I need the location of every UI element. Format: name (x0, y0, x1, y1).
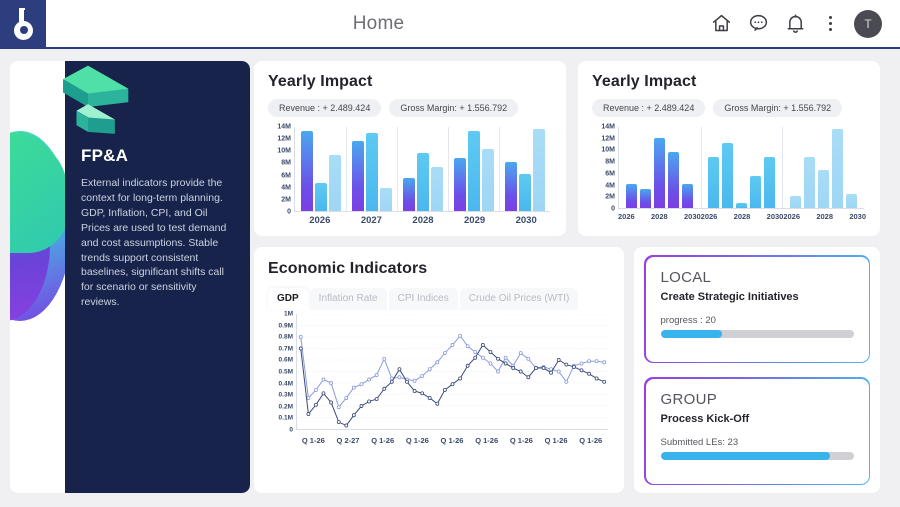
app-logo[interactable] (0, 0, 46, 48)
data-point[interactable] (527, 376, 530, 379)
y-tick: 4M (605, 182, 615, 189)
data-point[interactable] (360, 404, 363, 407)
x-tick-group: 202620282030 (783, 212, 866, 221)
y-tick: 0.4M (279, 380, 293, 387)
fpa-dark-card: FP&A External indicators provide the con… (65, 61, 250, 493)
x-tick (833, 212, 849, 221)
gdp-line-chart: 1M0.9M0.8M0.7M0.6M0.5M0.4M0.3M0.2M0.1M0 … (268, 314, 610, 454)
y-tick: 4M (281, 184, 291, 191)
gross-margin-badge: Gross Margin: + 1.556.792 (389, 99, 518, 117)
bar[interactable] (626, 184, 637, 208)
yearly-impact-1-title: Yearly Impact (268, 73, 552, 91)
data-point[interactable] (375, 397, 378, 400)
y-tick: 0.2M (279, 403, 293, 410)
kpi-card-local[interactable]: LOCAL Create Strategic Initiatives progr… (644, 255, 870, 363)
fpa-info-panel: FP&A External indicators provide the con… (10, 61, 250, 493)
yearly-impact-2-badges: Revenue : + 2.489.424 Gross Margin: + 1.… (592, 99, 866, 117)
y-tick: 0.6M (279, 357, 293, 364)
line-chart-svg (297, 314, 608, 429)
data-point[interactable] (459, 334, 462, 337)
x-tick: 2028 (734, 212, 751, 221)
y-tick: 12M (277, 136, 291, 143)
data-point[interactable] (489, 362, 492, 365)
yearly-impact-2-x-labels: 202620282030202620282030202620282030 (618, 212, 866, 221)
kpi-card-group[interactable]: GROUP Process Kick-Off Submitted LEs: 23 (644, 377, 870, 485)
data-point[interactable] (580, 362, 583, 365)
data-point[interactable] (421, 374, 424, 377)
revenue-badge: Revenue : + 2.489.424 (592, 99, 705, 117)
data-point[interactable] (466, 364, 469, 367)
data-point[interactable] (299, 335, 302, 338)
x-tick: Q 2-27 (331, 436, 366, 445)
data-point[interactable] (580, 369, 583, 372)
page-title: Home (46, 13, 711, 35)
x-axis-labels: Q 1-26Q 2-27Q 1-26Q 1-26Q 1-26Q 1-26Q 1-… (296, 436, 608, 445)
data-point[interactable] (390, 380, 393, 383)
data-point[interactable] (565, 380, 568, 383)
bar[interactable] (366, 133, 378, 211)
data-point[interactable] (451, 383, 454, 386)
x-tick: 2028 (816, 212, 833, 221)
kpi-cards-container: LOCAL Create Strategic Initiatives progr… (634, 247, 880, 493)
data-point[interactable] (474, 350, 477, 353)
kpi-local-progress-fill (661, 330, 723, 338)
y-tick: 10M (601, 147, 615, 154)
y-tick: 14M (601, 124, 615, 131)
bar[interactable] (832, 129, 843, 208)
data-point[interactable] (474, 356, 477, 359)
data-point[interactable] (504, 362, 507, 365)
kpi-local-subtitle: Create Strategic Initiatives (661, 291, 854, 303)
x-tick: 2030 (684, 212, 701, 221)
data-point[interactable] (360, 383, 363, 386)
yearly-impact-1-bar-chart: 14M12M10M8M6M4M2M0 (268, 127, 552, 212)
data-point[interactable] (322, 392, 325, 395)
x-tick: 2028 (651, 212, 668, 221)
y-tick: 14M (277, 124, 291, 131)
yearly-impact-card-2: Yearly Impact Revenue : + 2.489.424 Gros… (578, 61, 880, 236)
kpi-group-subtitle: Process Kick-Off (661, 413, 854, 425)
bar[interactable] (533, 129, 545, 211)
arrow-3d-logo-icon (40, 61, 136, 154)
x-tick-group: 202620282030 (618, 212, 701, 221)
data-point[interactable] (466, 345, 469, 348)
bar[interactable] (708, 157, 719, 208)
data-point[interactable] (588, 372, 591, 375)
data-point[interactable] (497, 370, 500, 373)
kpi-group-label: GROUP (661, 391, 854, 408)
b-logo-icon (10, 8, 36, 40)
data-point[interactable] (595, 377, 598, 380)
data-point[interactable] (428, 368, 431, 371)
tab-crude-oil-prices-wti[interactable]: Crude Oil Prices (WTI) (460, 288, 579, 310)
yearly-impact-2-title: Yearly Impact (592, 73, 866, 91)
data-point[interactable] (436, 402, 439, 405)
kpi-group-progress-fill (661, 452, 831, 460)
yearly-impact-1-x-labels: 20262027202820292030 (294, 215, 552, 226)
data-point[interactable] (368, 400, 371, 403)
data-point[interactable] (489, 350, 492, 353)
bar[interactable] (750, 176, 761, 208)
data-point[interactable] (603, 361, 606, 364)
data-point[interactable] (337, 406, 340, 409)
data-point[interactable] (572, 365, 575, 368)
bar[interactable] (519, 174, 531, 211)
data-point[interactable] (352, 386, 355, 389)
data-point[interactable] (405, 380, 408, 383)
bar-group (295, 127, 346, 211)
data-point[interactable] (307, 396, 310, 399)
avatar[interactable]: T (854, 10, 882, 38)
data-point[interactable] (299, 347, 302, 350)
bar[interactable] (722, 143, 733, 208)
y-tick: 12M (601, 135, 615, 142)
bar-group (499, 127, 550, 211)
data-point[interactable] (451, 343, 454, 346)
data-point[interactable] (368, 378, 371, 381)
data-point[interactable] (443, 388, 446, 391)
bar-group (701, 127, 783, 208)
bar[interactable] (454, 158, 466, 211)
x-tick (668, 212, 684, 221)
bar[interactable] (764, 157, 775, 208)
y-tick: 2M (281, 196, 291, 203)
y-tick: 6M (605, 170, 615, 177)
tab-gdp[interactable]: GDP (268, 288, 308, 310)
y-tick: 0.9M (279, 322, 293, 329)
data-point[interactable] (314, 388, 317, 391)
data-point[interactable] (314, 403, 317, 406)
x-tick: 2028 (397, 215, 449, 226)
data-point[interactable] (307, 412, 310, 415)
bar[interactable] (352, 141, 364, 211)
data-point[interactable] (443, 351, 446, 354)
data-point[interactable] (504, 356, 507, 359)
kebab-menu-icon[interactable] (822, 13, 838, 34)
data-point[interactable] (588, 360, 591, 363)
y-tick: 0 (287, 209, 291, 216)
app-header: Home T (0, 0, 900, 49)
y-tick: 0.3M (279, 392, 293, 399)
economic-indicators-title: Economic Indicators (268, 260, 610, 278)
data-point[interactable] (534, 366, 537, 369)
kpi-local-progress-bar (661, 330, 854, 338)
data-point[interactable] (345, 396, 348, 399)
x-tick: Q 1-26 (435, 436, 470, 445)
data-point[interactable] (322, 378, 325, 381)
yearly-impact-card-1: Yearly Impact Revenue : + 2.489.424 Gros… (254, 61, 566, 236)
bar[interactable] (682, 184, 693, 208)
plot-area (296, 314, 608, 430)
kpi-local-progress-label: progress : 20 (661, 315, 854, 326)
x-tick: 2030 (500, 215, 552, 226)
bar[interactable] (668, 152, 679, 208)
y-tick: 0 (611, 206, 615, 213)
kpi-group-progress-label: Submitted LEs: 23 (661, 437, 854, 448)
x-tick: Q 1-26 (296, 436, 331, 445)
yearly-impact-2-bar-chart: 14M12M10M8M6M4M2M0 (592, 127, 866, 209)
x-tick: Q 1-26 (573, 436, 608, 445)
revenue-badge: Revenue : + 2.489.424 (268, 99, 381, 117)
y-axis: 1M0.9M0.8M0.7M0.6M0.5M0.4M0.3M0.2M0.1M0 (268, 314, 294, 430)
kpi-group-progress-bar (661, 452, 854, 460)
bar[interactable] (468, 131, 480, 211)
tab-cpi-indices[interactable]: CPI Indices (389, 288, 458, 310)
data-point[interactable] (512, 366, 515, 369)
x-tick: 2026 (701, 212, 718, 221)
data-point[interactable] (330, 381, 333, 384)
page-body: FP&A External indicators provide the con… (0, 51, 900, 507)
bar[interactable] (846, 194, 857, 208)
bar[interactable] (640, 189, 651, 208)
kpi-local-label: LOCAL (661, 269, 854, 286)
bar[interactable] (736, 203, 747, 208)
data-point[interactable] (413, 379, 416, 382)
data-point[interactable] (383, 357, 386, 360)
tab-inflation-rate[interactable]: Inflation Rate (310, 288, 387, 310)
y-tick: 10M (277, 148, 291, 155)
data-point[interactable] (375, 373, 378, 376)
data-point[interactable] (527, 357, 530, 360)
bar[interactable] (403, 178, 415, 211)
y-tick: 8M (281, 160, 291, 167)
chat-icon[interactable] (748, 13, 769, 34)
bar[interactable] (654, 138, 665, 208)
y-tick: 6M (281, 172, 291, 179)
y-tick: 0.1M (279, 415, 293, 422)
bar[interactable] (301, 131, 313, 211)
data-point[interactable] (557, 370, 560, 373)
bar-group (397, 127, 448, 211)
x-tick: 2030 (849, 212, 866, 221)
data-point[interactable] (330, 401, 333, 404)
y-axis: 14M12M10M8M6M4M2M0 (592, 127, 616, 209)
bar-group (782, 127, 864, 208)
x-tick (750, 212, 766, 221)
x-tick (717, 212, 733, 221)
x-tick: 2030 (767, 212, 784, 221)
x-tick: Q 1-26 (539, 436, 574, 445)
bar[interactable] (790, 196, 801, 208)
bar[interactable] (417, 153, 429, 211)
gross-margin-badge: Gross Margin: + 1.556.792 (713, 99, 842, 117)
data-point[interactable] (519, 370, 522, 373)
x-tick-group: 202620282030 (701, 212, 784, 221)
bar-group (346, 127, 397, 211)
y-tick: 1M (284, 311, 293, 318)
data-point[interactable] (481, 356, 484, 359)
data-point[interactable] (337, 420, 340, 423)
y-tick: 0.5M (279, 369, 293, 376)
bell-icon[interactable] (785, 13, 806, 34)
data-point[interactable] (565, 363, 568, 366)
bar[interactable] (431, 167, 443, 211)
bar[interactable] (818, 170, 829, 208)
x-tick (800, 212, 816, 221)
data-point[interactable] (481, 343, 484, 346)
y-tick: 0 (289, 427, 293, 434)
data-point[interactable] (413, 389, 416, 392)
data-point[interactable] (557, 358, 560, 361)
data-point[interactable] (345, 424, 348, 427)
bar[interactable] (804, 157, 815, 208)
x-tick: Q 1-26 (365, 436, 400, 445)
x-tick: 2029 (449, 215, 501, 226)
plot-area (618, 127, 864, 209)
data-point[interactable] (542, 366, 545, 369)
x-tick: 2026 (618, 212, 635, 221)
bar[interactable] (380, 188, 392, 211)
home-icon[interactable] (711, 13, 732, 34)
bar[interactable] (505, 162, 517, 211)
economic-indicators-tabs: GDPInflation RateCPI IndicesCrude Oil Pr… (268, 288, 610, 310)
bar[interactable] (315, 183, 327, 211)
x-tick: Q 1-26 (469, 436, 504, 445)
y-tick: 2M (605, 194, 615, 201)
y-tick: 8M (605, 159, 615, 166)
bar-group (619, 127, 701, 208)
data-point[interactable] (383, 387, 386, 390)
x-tick: 2026 (294, 215, 346, 226)
panel-description: External indicators provide the context … (81, 176, 234, 310)
plot-area (294, 127, 550, 212)
data-point[interactable] (352, 414, 355, 417)
data-point[interactable] (519, 351, 522, 354)
bar[interactable] (482, 149, 494, 211)
y-tick: 0.8M (279, 334, 293, 341)
data-point[interactable] (459, 377, 462, 380)
data-point[interactable] (603, 380, 606, 383)
data-point[interactable] (550, 371, 553, 374)
data-point[interactable] (398, 368, 401, 371)
bar-group (448, 127, 499, 211)
data-point[interactable] (421, 392, 424, 395)
x-tick (635, 212, 651, 221)
y-tick: 0.7M (279, 345, 293, 352)
header-actions: T (711, 10, 900, 38)
x-tick: 2026 (783, 212, 800, 221)
bar[interactable] (329, 155, 341, 211)
x-tick: Q 1-26 (400, 436, 435, 445)
x-tick: Q 1-26 (504, 436, 539, 445)
data-point[interactable] (398, 376, 401, 379)
x-tick: 2027 (346, 215, 398, 226)
data-point[interactable] (436, 361, 439, 364)
data-point[interactable] (595, 360, 598, 363)
data-point[interactable] (428, 396, 431, 399)
yearly-impact-1-badges: Revenue : + 2.489.424 Gross Margin: + 1.… (268, 99, 552, 117)
data-point[interactable] (497, 357, 500, 360)
economic-indicators-card: Economic Indicators GDPInflation RateCPI… (254, 247, 624, 493)
y-axis: 14M12M10M8M6M4M2M0 (268, 127, 292, 212)
